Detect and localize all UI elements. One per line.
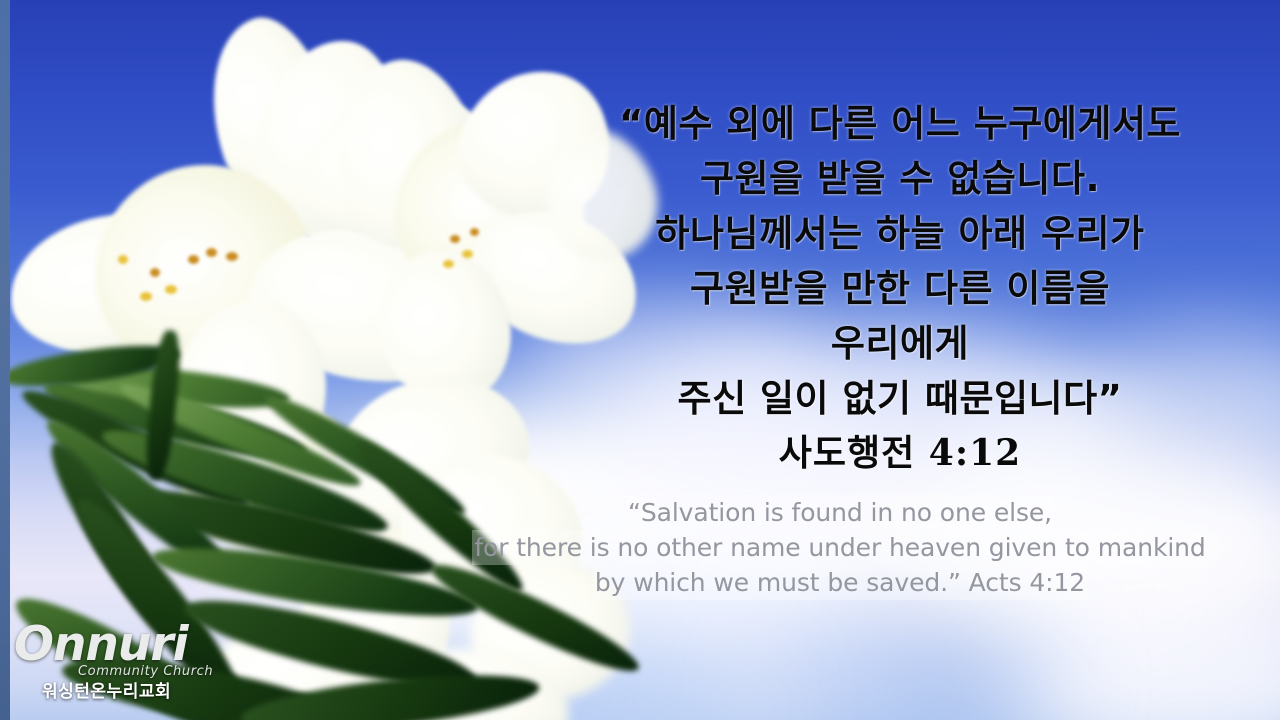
korean-verse-line-4: 구원받을 만한 다른 이름을 (540, 261, 1260, 316)
english-verse-line-2: for there is no other name under heaven … (472, 530, 1207, 565)
english-verse-line-1: “Salvation is found in no one else, (626, 495, 1054, 530)
logo-wordmark: Onnuri (14, 620, 214, 670)
scripture-slide: “예수 외에 다른 어느 누구에게서도 구원을 받을 수 없습니다. 하나님께서… (0, 0, 1280, 720)
korean-verse-block: “예수 외에 다른 어느 누구에게서도 구원을 받을 수 없습니다. 하나님께서… (540, 96, 1260, 480)
logo-tagline: Community Church (78, 664, 214, 679)
english-verse-block: “Salvation is found in no one else, for … (440, 495, 1240, 600)
korean-verse-reference: 사도행전 4:12 (540, 426, 1260, 480)
onnuri-church-logo: Onnuri Community Church 워싱턴온누리교회 (14, 620, 214, 712)
korean-verse-line-3: 하나님께서는 하늘 아래 우리가 (540, 206, 1260, 261)
korean-verse-line-2: 구원을 받을 수 없습니다. (540, 151, 1260, 206)
korean-verse-line-5: 우리에게 (540, 316, 1260, 371)
logo-korean-name: 워싱턴온누리교회 (42, 682, 214, 702)
left-edge-strip (0, 0, 10, 720)
korean-verse-line-1: “예수 외에 다른 어느 누구에게서도 (540, 96, 1260, 151)
korean-verse-line-6: 주신 일이 없기 때문입니다” (540, 371, 1260, 426)
english-verse-line-3: by which we must be saved.” Acts 4:12 (593, 565, 1087, 600)
